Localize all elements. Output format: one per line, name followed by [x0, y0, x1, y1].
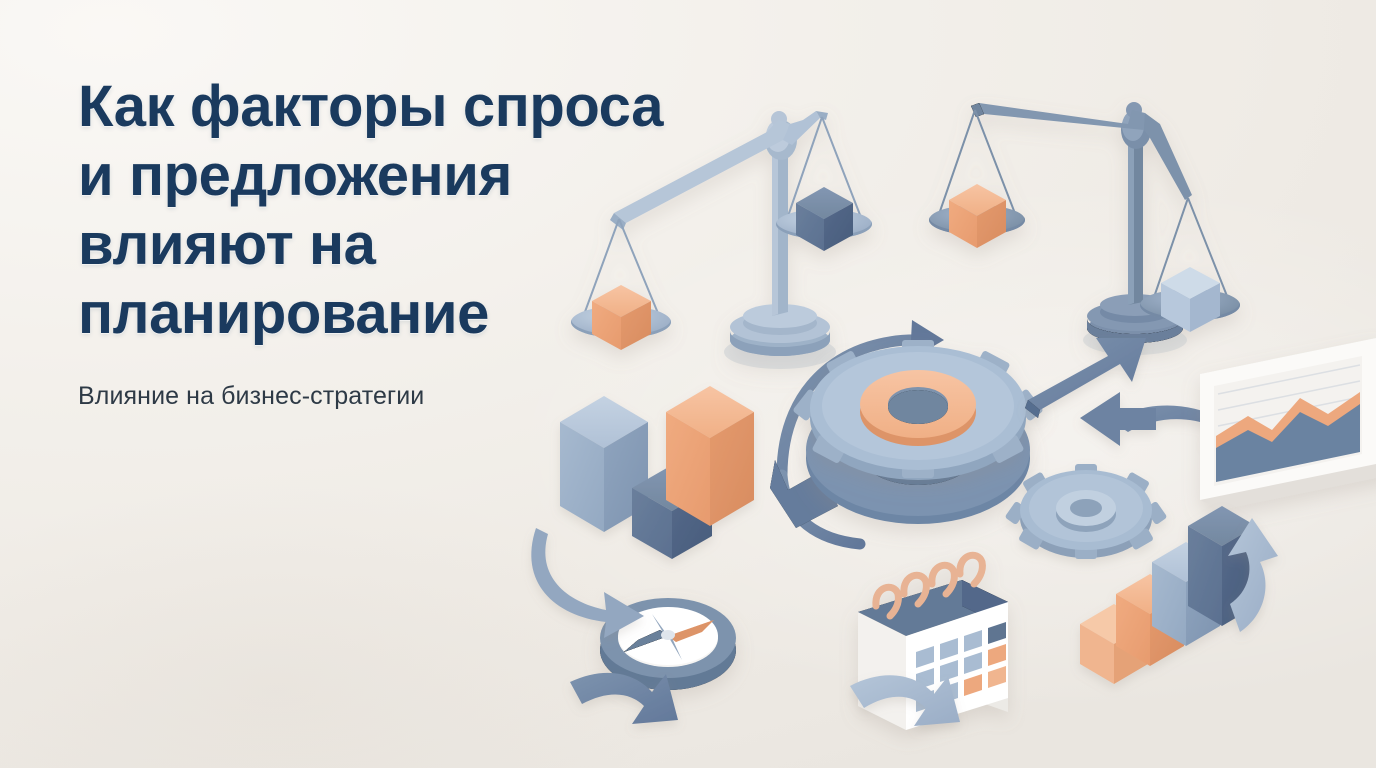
chart-card: [1200, 338, 1376, 510]
arrow-hook-bottom-left: [570, 673, 678, 724]
slide-root: Как факторы спроса и предложения влияют …: [0, 0, 1376, 768]
gear-small: [1005, 464, 1168, 559]
balance-scale-right: [929, 102, 1240, 355]
text-block: Как факторы спроса и предложения влияют …: [78, 72, 778, 412]
arrow-up-right: [1025, 338, 1146, 418]
cube-orange-right-scale: [949, 184, 1006, 248]
cube-dark-right: [796, 187, 853, 251]
page-title: Как факторы спроса и предложения влияют …: [78, 72, 778, 348]
arrow-curve-down: [531, 528, 644, 638]
gear-hub-orange: [860, 370, 976, 446]
page-subtitle: Влияние на бизнес-стратегии: [78, 380, 778, 412]
